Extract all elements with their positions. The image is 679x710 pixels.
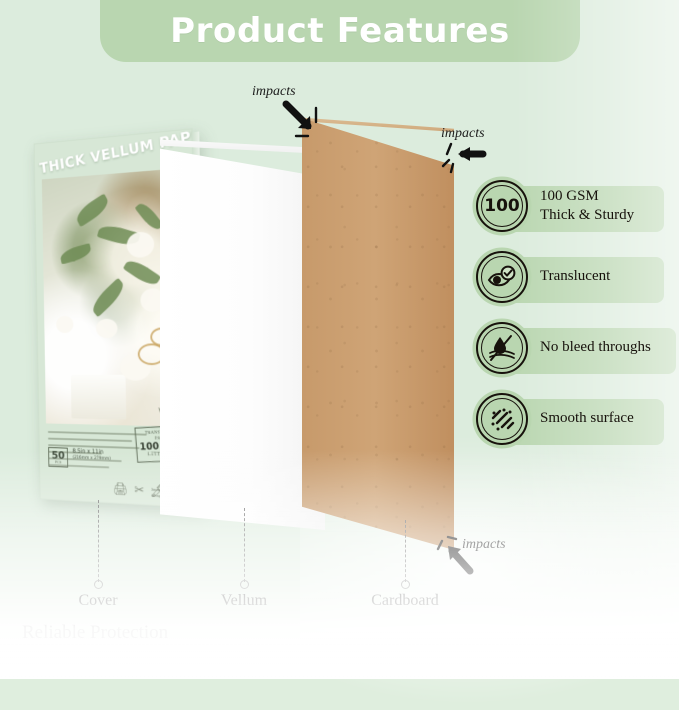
feature-item-gsm[interactable]: 100 100 GSM Thick & Sturdy [476,180,634,232]
feature-line2: Thick & Sturdy [540,206,634,225]
impact-arrow-left-icon [439,140,491,174]
feature-line1: Smooth surface [540,410,634,426]
impact-arrow-down-right-icon [280,98,326,142]
smooth-surface-icon [476,393,528,445]
no-bleed-ink-drop-icon [476,322,528,374]
feature-line1: 100 GSM [540,188,599,204]
cover-photo-cake [71,375,126,420]
impact-annotation-top: impacts [252,84,296,100]
feature-text: Smooth surface [540,409,634,428]
feature-line1: No bleed throughs [540,339,651,355]
feature-text: 100 GSM Thick & Sturdy [540,187,634,225]
feature-line1: Translucent [540,268,610,284]
title-banner: Product Features [100,0,580,62]
feature-text: No bleed throughs [540,338,651,357]
page-title: Product Features [170,14,510,48]
infographic-canvas: Product Features THICK VELLUM PAPER [0,0,679,679]
background-fade-bottom [0,449,679,679]
100-gsm-badge-icon: 100 [476,180,528,232]
feature-text: Translucent [540,267,610,286]
translucent-eye-icon [476,251,528,303]
impact-annotation-right: impacts [441,126,485,142]
